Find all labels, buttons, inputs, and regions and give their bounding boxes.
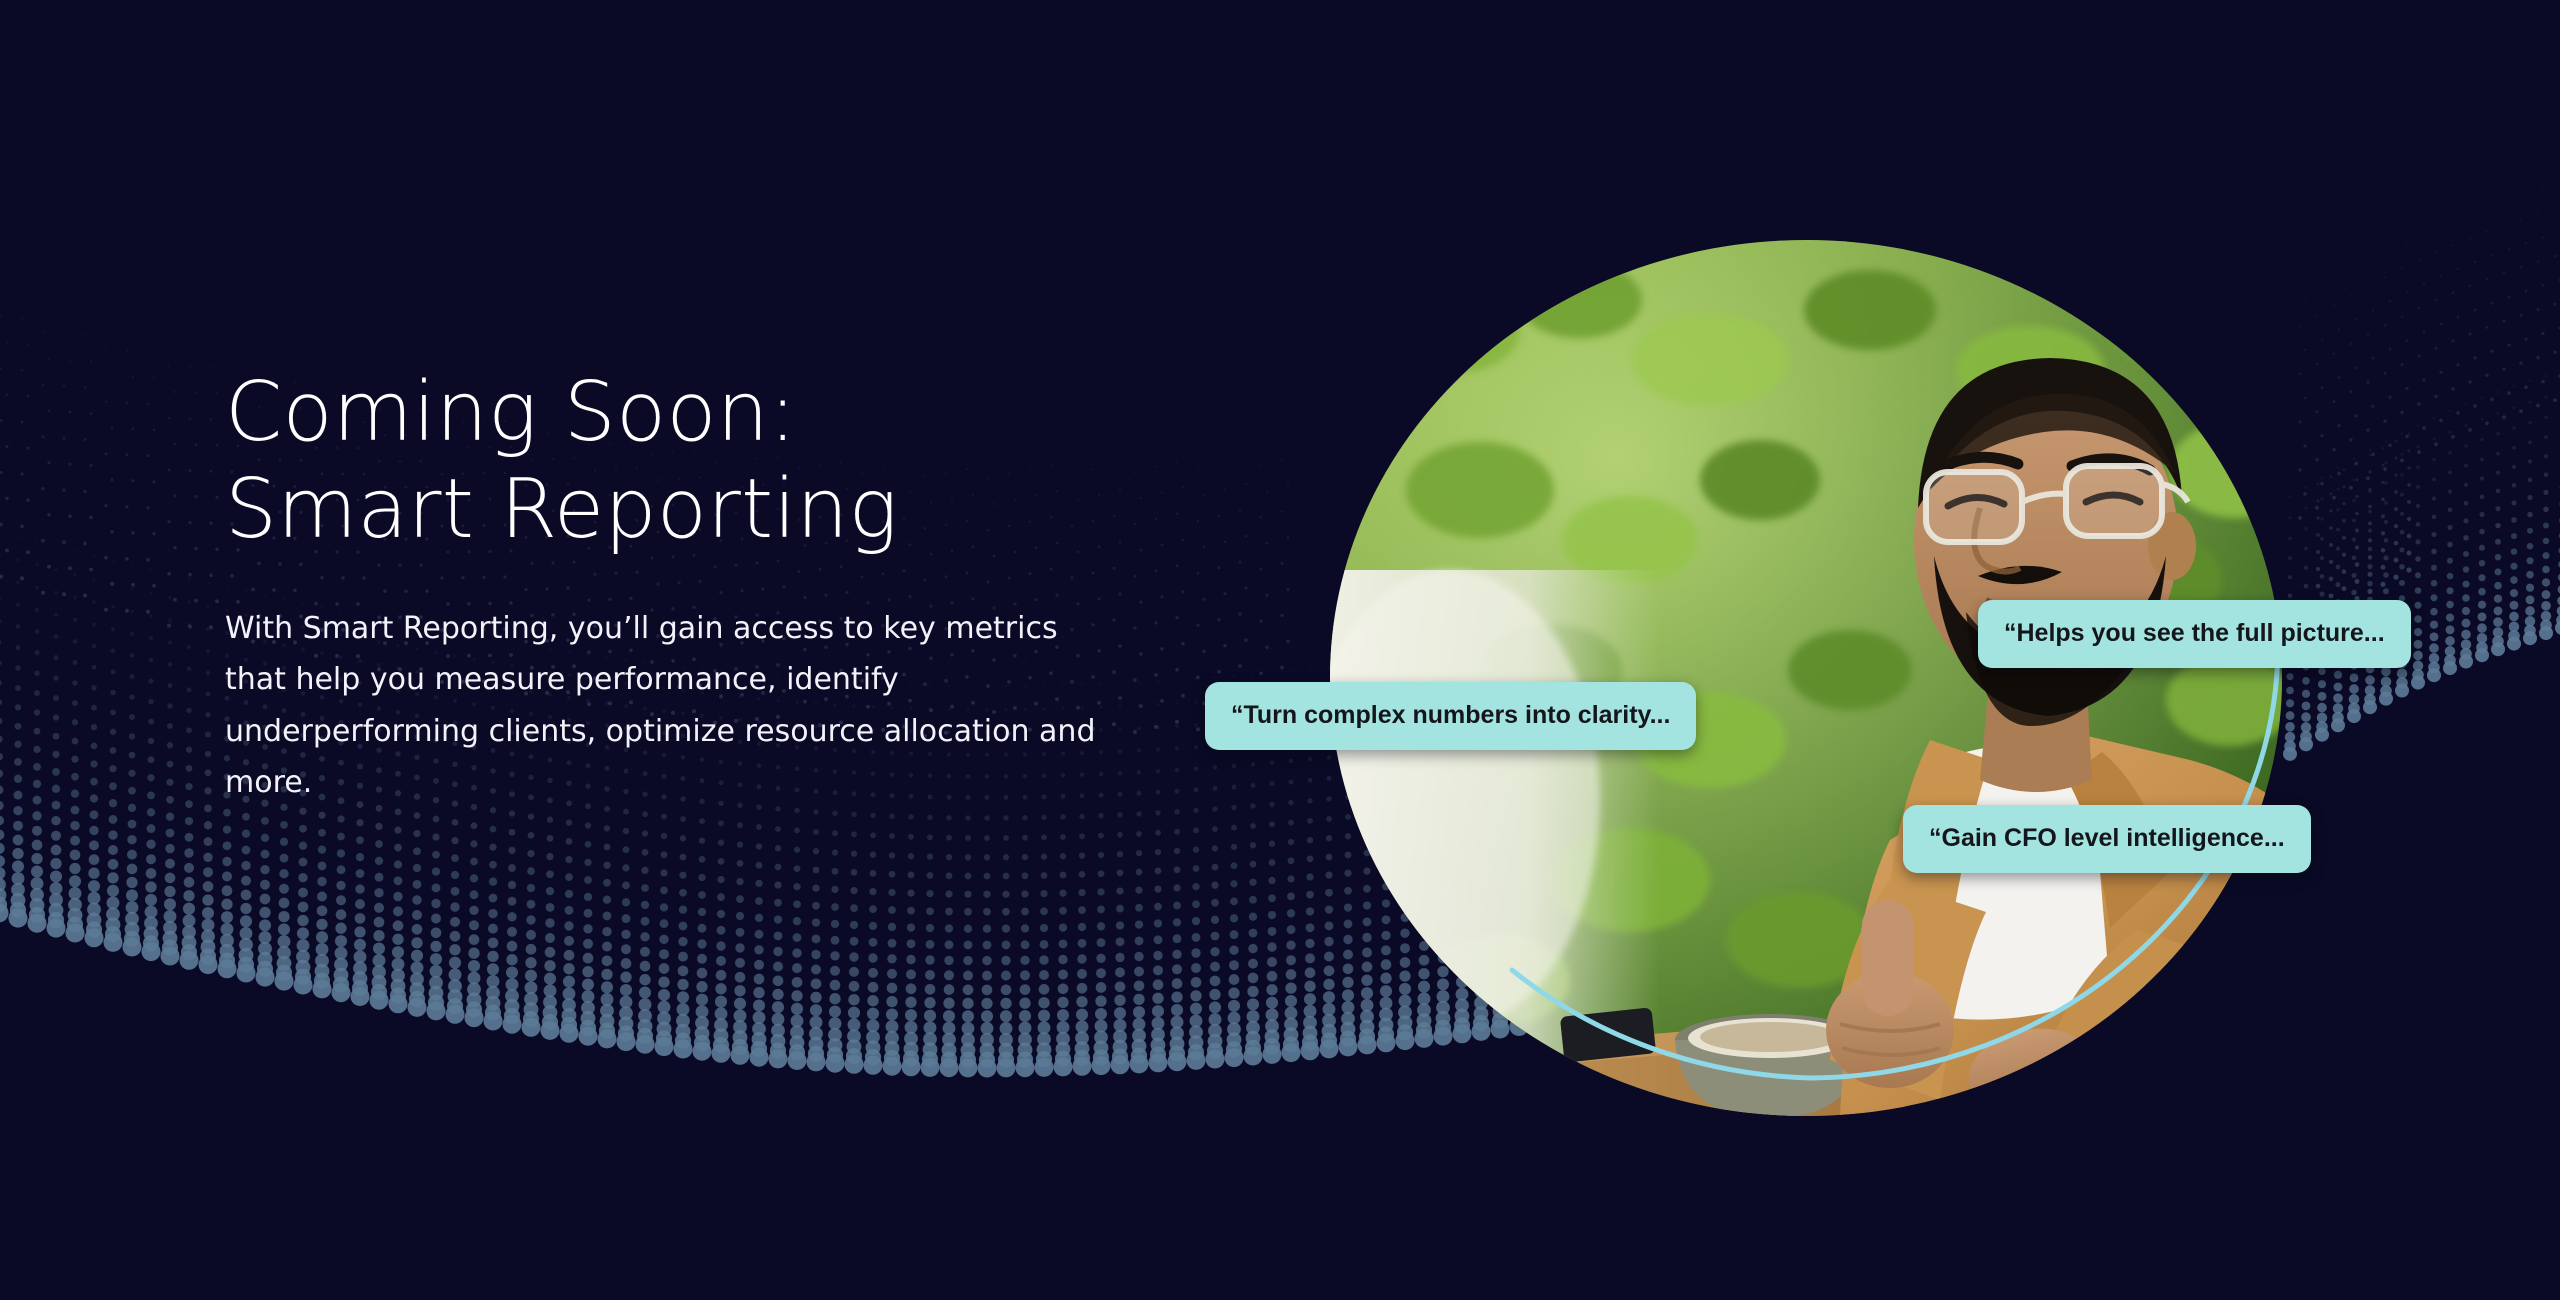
- hero-section: Coming Soon: Smart Reporting With Smart …: [0, 0, 2560, 1300]
- quote-bubble-full-picture: “Helps you see the full picture...: [1978, 600, 2411, 668]
- page-title: Coming Soon: Smart Reporting: [225, 365, 1155, 559]
- quote-bubble-clarity: “Turn complex numbers into clarity...: [1205, 682, 1696, 750]
- hero-photo: [1330, 240, 2282, 1116]
- hero-description: With Smart Reporting, you’ll gain access…: [225, 603, 1125, 809]
- quote-bubble-cfo-intelligence: “Gain CFO level intelligence...: [1903, 805, 2311, 873]
- hero-text-block: Coming Soon: Smart Reporting With Smart …: [225, 365, 1155, 809]
